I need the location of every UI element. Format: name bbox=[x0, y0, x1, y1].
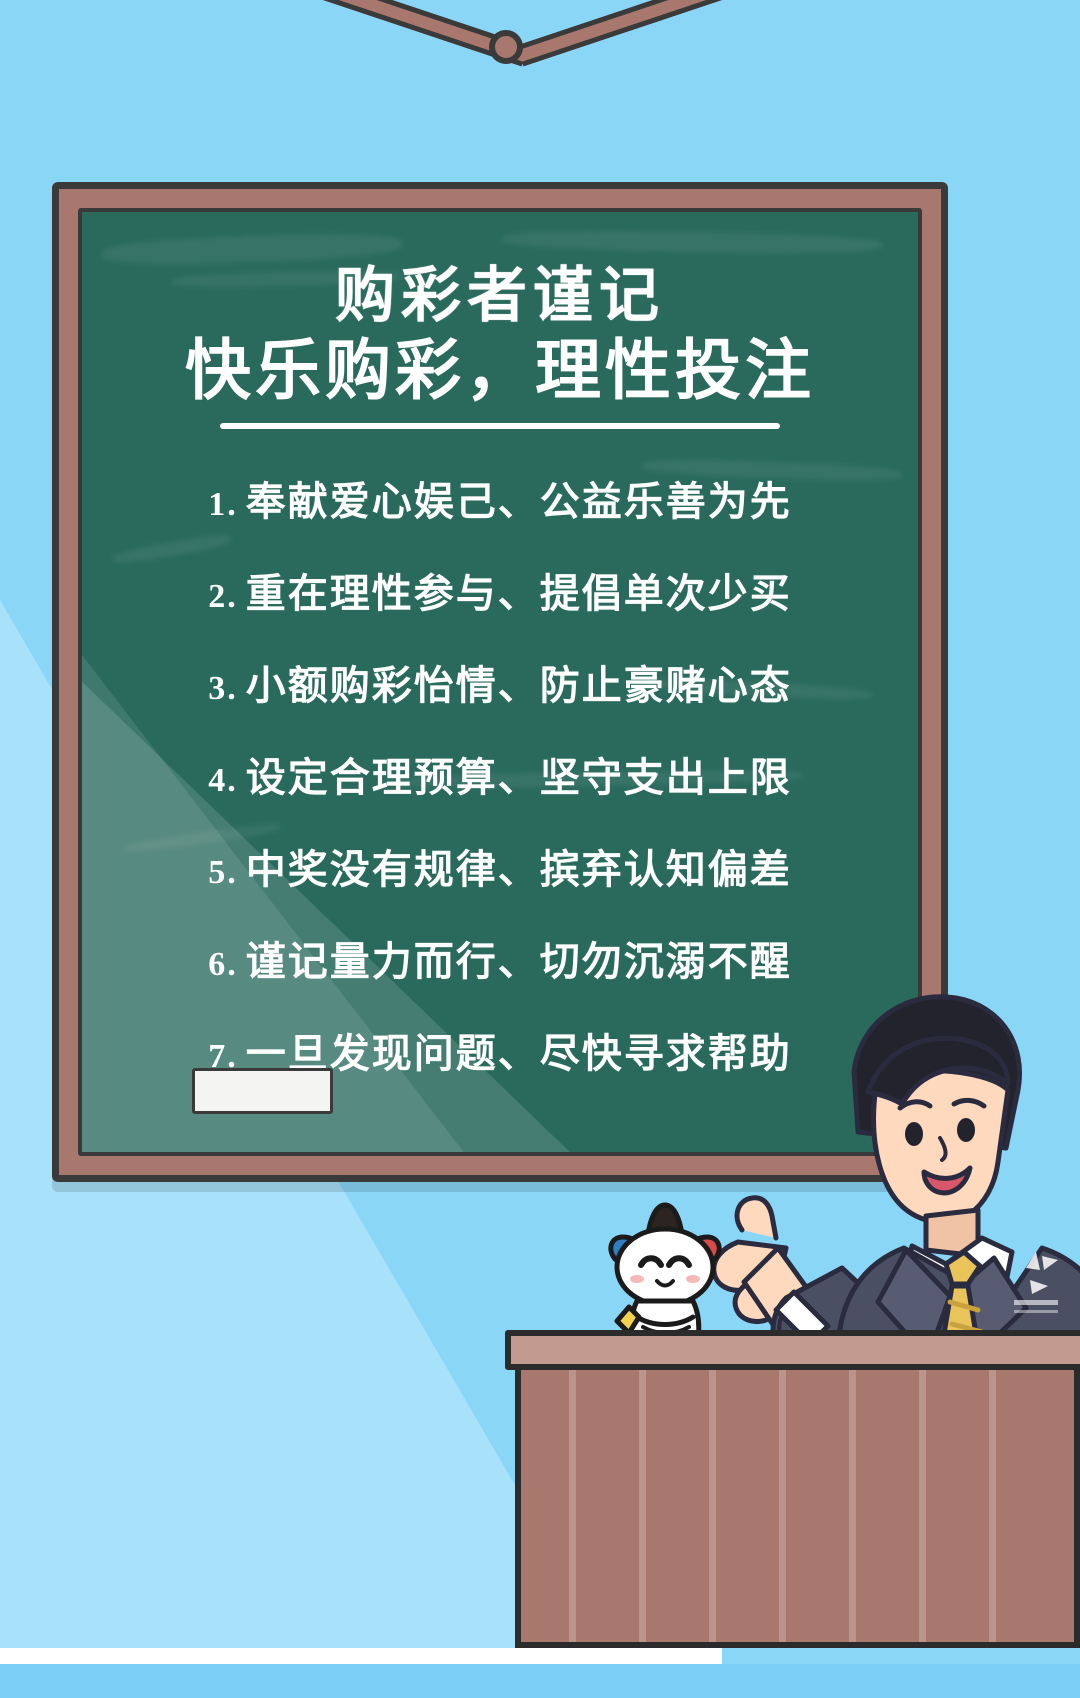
bottom-accent-bar bbox=[0, 1648, 722, 1664]
board-title-line-2: 快乐购彩，理性投注 bbox=[82, 333, 918, 409]
bottom-background-strip bbox=[0, 1664, 1080, 1698]
hanger-rope-left bbox=[123, 0, 528, 66]
list-item: 4. 设定合理预算、坚守支出上限 bbox=[82, 745, 918, 803]
rule-number: 4. bbox=[208, 762, 238, 800]
rule-text: 小额购彩怡情、防止豪赌心态 bbox=[246, 653, 792, 711]
board-title-line-1: 购彩者谨记 bbox=[82, 262, 918, 329]
rule-number: 6. bbox=[208, 946, 238, 984]
list-item: 1. 奉献爱心娱己、公益乐善为先 bbox=[82, 469, 918, 527]
rule-text: 重在理性参与、提倡单次少买 bbox=[246, 561, 792, 619]
rule-text: 设定合理预算、坚守支出上限 bbox=[246, 745, 792, 803]
hanger-knob-icon bbox=[489, 30, 523, 64]
hanger-rope-right bbox=[517, 0, 922, 66]
desk-top-surface bbox=[505, 1330, 1080, 1370]
rule-text: 奉献爱心娱己、公益乐善为先 bbox=[246, 469, 792, 527]
rule-text: 中奖没有规律、摈弃认知偏差 bbox=[246, 837, 792, 895]
poster-canvas: 购彩者谨记 快乐购彩，理性投注 1. 奉献爱心娱己、公益乐善为先 2. 重在理性… bbox=[0, 0, 1080, 1698]
rule-number: 2. bbox=[208, 578, 238, 616]
rule-number: 5. bbox=[208, 854, 238, 892]
rule-text: 谨记量力而行、切勿沉溺不醒 bbox=[246, 929, 792, 987]
rule-number: 3. bbox=[208, 670, 238, 708]
list-item: 2. 重在理性参与、提倡单次少买 bbox=[82, 561, 918, 619]
list-item: 5. 中奖没有规律、摈弃认知偏差 bbox=[82, 837, 918, 895]
teacher-desk bbox=[515, 1348, 1080, 1648]
list-item: 3. 小额购彩怡情、防止豪赌心态 bbox=[82, 653, 918, 711]
list-item: 6. 谨记量力而行、切勿沉溺不醒 bbox=[82, 929, 918, 987]
rule-number: 1. bbox=[208, 486, 238, 524]
title-underline bbox=[220, 423, 780, 429]
chalk-eraser-icon bbox=[192, 1068, 333, 1114]
